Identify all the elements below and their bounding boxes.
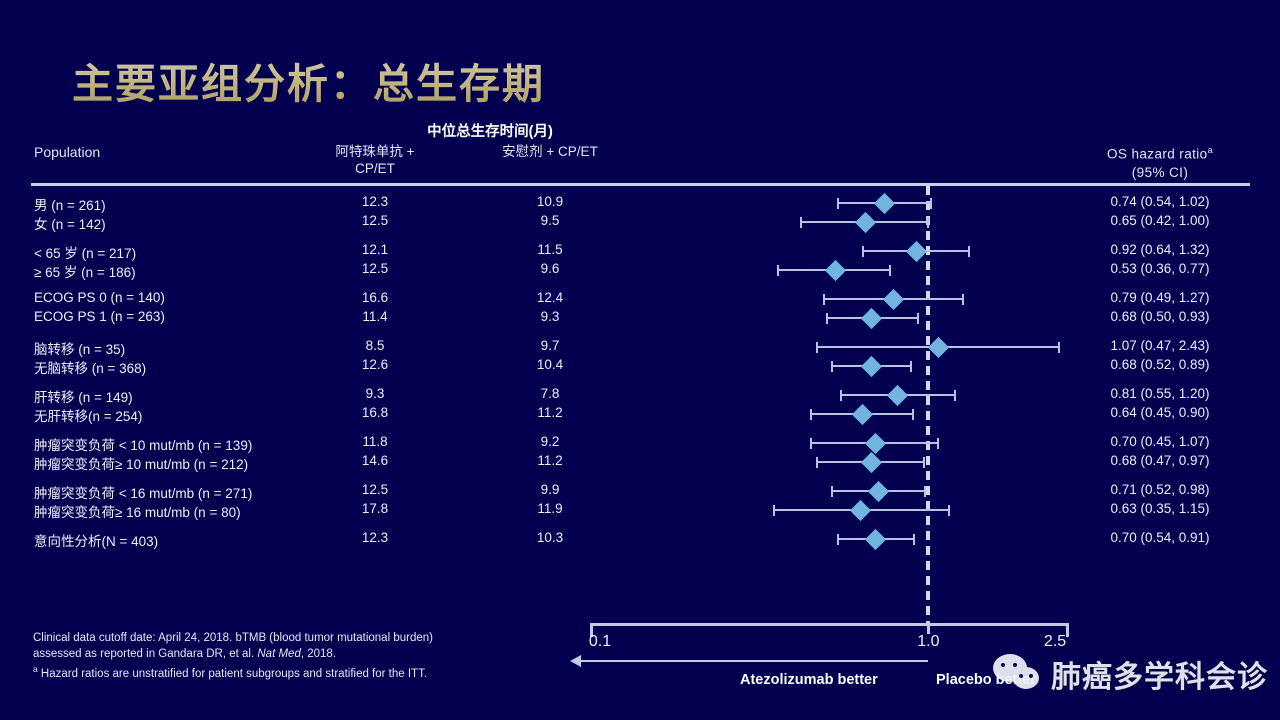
row-median-atezolizumab: 12.5: [300, 261, 450, 276]
row-median-placebo: 9.9: [455, 482, 645, 497]
row-median-placebo: 9.6: [455, 261, 645, 276]
row-median-placebo: 11.2: [455, 405, 645, 420]
row-hazard-ratio: 0.70 (0.45, 1.07): [1060, 434, 1260, 449]
row-population-label: 肿瘤突变负荷≥ 16 mut/mb (n = 80): [34, 501, 241, 521]
hazard-ratio-header-line2: (95% CI): [1060, 164, 1260, 182]
row-median-atezolizumab: 12.3: [300, 194, 450, 209]
table-row: 脑转移 (n = 35)8.59.71.07 (0.47, 2.43): [0, 338, 1280, 357]
row-median-atezolizumab: 8.5: [300, 338, 450, 353]
row-population-label: ECOG PS 1 (n = 263): [34, 309, 165, 324]
hazard-ratio-header-text: OS hazard ratio: [1107, 147, 1208, 162]
table-row: 无肝转移(n = 254)16.811.20.64 (0.45, 0.90): [0, 405, 1280, 424]
row-hazard-ratio: 0.79 (0.49, 1.27): [1060, 290, 1260, 305]
row-median-atezolizumab: 16.6: [300, 290, 450, 305]
watermark: 肺癌多学科会诊: [993, 652, 1268, 696]
row-median-atezolizumab: 12.1: [300, 242, 450, 257]
table-row: 无脑转移 (n = 368)12.610.40.68 (0.52, 0.89): [0, 357, 1280, 376]
table-row: 女 (n = 142)12.59.50.65 (0.42, 1.00): [0, 213, 1280, 232]
row-median-atezolizumab: 14.6: [300, 453, 450, 468]
row-median-atezolizumab: 12.3: [300, 530, 450, 545]
row-population-label: ECOG PS 0 (n = 140): [34, 290, 165, 305]
wechat-eye-4: [1029, 674, 1033, 678]
row-median-atezolizumab: 12.6: [300, 357, 450, 372]
column-header-population: Population: [34, 144, 100, 160]
row-population-label: 脑转移 (n = 35): [34, 338, 125, 358]
column-header-arm-atezolizumab: 阿特珠单抗 + CP/ET: [300, 143, 450, 177]
table-row: < 65 岁 (n = 217)12.111.50.92 (0.64, 1.32…: [0, 242, 1280, 261]
axis-tick-label-high: 2.5: [1015, 633, 1095, 651]
row-median-placebo: 9.7: [455, 338, 645, 353]
wechat-eye-1: [1001, 663, 1005, 667]
row-median-placebo: 10.4: [455, 357, 645, 372]
row-population-label: 男 (n = 261): [34, 194, 106, 214]
column-header-arm1-line2: CP/ET: [300, 160, 450, 177]
row-hazard-ratio: 0.68 (0.47, 0.97): [1060, 453, 1260, 468]
row-median-atezolizumab: 17.8: [300, 501, 450, 516]
row-hazard-ratio: 0.65 (0.42, 1.00): [1060, 213, 1260, 228]
row-population-label: 肿瘤突变负荷≥ 10 mut/mb (n = 212): [34, 453, 248, 473]
row-median-atezolizumab: 9.3: [300, 386, 450, 401]
header-divider: [31, 183, 1250, 186]
row-median-atezolizumab: 11.4: [300, 309, 450, 324]
row-median-placebo: 7.8: [455, 386, 645, 401]
column-header-hazard-ratio: OS hazard ratioa (95% CI): [1060, 141, 1260, 182]
row-median-placebo: 9.2: [455, 434, 645, 449]
row-hazard-ratio: 0.71 (0.52, 0.98): [1060, 482, 1260, 497]
row-median-placebo: 9.3: [455, 309, 645, 324]
row-median-placebo: 11.5: [455, 242, 645, 257]
hazard-ratio-footnote-marker: a: [1208, 145, 1213, 155]
slide-root: 主要亚组分析：总生存期 中位总生存时间(月) Population 阿特珠单抗 …: [0, 0, 1280, 720]
row-population-label: < 65 岁 (n = 217): [34, 242, 136, 262]
row-median-atezolizumab: 12.5: [300, 213, 450, 228]
row-hazard-ratio: 0.63 (0.35, 1.15): [1060, 501, 1260, 516]
row-median-atezolizumab: 12.5: [300, 482, 450, 497]
table-row: 肝转移 (n = 149)9.37.80.81 (0.55, 1.20): [0, 386, 1280, 405]
row-population-label: 肿瘤突变负荷 < 16 mut/mb (n = 271): [34, 482, 252, 502]
wechat-eye-2: [1013, 663, 1017, 667]
axis-label-atezolizumab-better: Atezolizumab better: [740, 672, 878, 688]
footnote-line-3-text: Hazard ratios are unstratified for patie…: [38, 668, 427, 680]
row-median-atezolizumab: 16.8: [300, 405, 450, 420]
row-median-placebo: 10.9: [455, 194, 645, 209]
row-median-placebo: 11.9: [455, 501, 645, 516]
wechat-eye-3: [1019, 674, 1023, 678]
row-hazard-ratio: 0.92 (0.64, 1.32): [1060, 242, 1260, 257]
hazard-ratio-header-line1: OS hazard ratioa: [1060, 141, 1260, 164]
table-row: 肿瘤突变负荷 < 10 mut/mb (n = 139)11.89.20.70 …: [0, 434, 1280, 453]
footnote-line-2-post: , 2018.: [301, 648, 336, 660]
column-header-median-os: 中位总生存时间(月): [330, 120, 650, 141]
footnote-line-1: Clinical data cutoff date: April 24, 201…: [33, 631, 593, 647]
row-hazard-ratio: 1.07 (0.47, 2.43): [1060, 338, 1260, 353]
row-hazard-ratio: 0.81 (0.55, 1.20): [1060, 386, 1260, 401]
table-row: 肿瘤突变负荷 < 16 mut/mb (n = 271)12.59.90.71 …: [0, 482, 1280, 501]
axis-bracket: [590, 623, 1069, 637]
row-hazard-ratio: 0.64 (0.45, 0.90): [1060, 405, 1260, 420]
column-header-arm1-line1: 阿特珠单抗 +: [300, 143, 450, 160]
row-population-label: 女 (n = 142): [34, 213, 106, 233]
row-population-label: 肿瘤突变负荷 < 10 mut/mb (n = 139): [34, 434, 252, 454]
footnote-line-2: assessed as reported in Gandara DR, et a…: [33, 647, 593, 663]
row-population-label: 无肝转移(n = 254): [34, 405, 142, 425]
page-title: 主要亚组分析：总生存期: [72, 50, 545, 110]
watermark-text: 肺癌多学科会诊: [1051, 652, 1268, 696]
row-hazard-ratio: 0.68 (0.50, 0.93): [1060, 309, 1260, 324]
table-row: ECOG PS 0 (n = 140)16.612.40.79 (0.49, 1…: [0, 290, 1280, 309]
row-hazard-ratio: 0.70 (0.54, 0.91): [1060, 530, 1260, 545]
row-hazard-ratio: 0.68 (0.52, 0.89): [1060, 357, 1260, 372]
footnote-line-3: a Hazard ratios are unstratified for pat…: [33, 662, 593, 682]
column-header-arm-placebo: 安慰剂 + CP/ET: [455, 143, 645, 160]
row-median-placebo: 10.3: [455, 530, 645, 545]
table-row: 男 (n = 261)12.310.90.74 (0.54, 1.02): [0, 194, 1280, 213]
table-row: ≥ 65 岁 (n = 186)12.59.60.53 (0.36, 0.77): [0, 261, 1280, 280]
axis-tick-label-mid: 1.0: [888, 633, 968, 651]
table-row: 肿瘤突变负荷≥ 10 mut/mb (n = 212)14.611.20.68 …: [0, 453, 1280, 472]
direction-arrow-line: [580, 660, 928, 662]
row-population-label: 肝转移 (n = 149): [34, 386, 133, 406]
row-median-placebo: 9.5: [455, 213, 645, 228]
table-row: 肿瘤突变负荷≥ 16 mut/mb (n = 80)17.811.90.63 (…: [0, 501, 1280, 520]
table-row: 意向性分析(N = 403)12.310.30.70 (0.54, 0.91): [0, 530, 1280, 549]
table-row: ECOG PS 1 (n = 263)11.49.30.68 (0.50, 0.…: [0, 309, 1280, 328]
row-population-label: ≥ 65 岁 (n = 186): [34, 261, 136, 281]
row-population-label: 无脑转移 (n = 368): [34, 357, 146, 377]
row-population-label: 意向性分析(N = 403): [34, 530, 158, 550]
wechat-bubble-small: [1013, 667, 1039, 689]
row-hazard-ratio: 0.74 (0.54, 1.02): [1060, 194, 1260, 209]
row-median-placebo: 11.2: [455, 453, 645, 468]
row-median-placebo: 12.4: [455, 290, 645, 305]
footnote: Clinical data cutoff date: April 24, 201…: [33, 631, 593, 682]
footnote-line-2-pre: assessed as reported in Gandara DR, et a…: [33, 648, 257, 660]
row-median-atezolizumab: 11.8: [300, 434, 450, 449]
wechat-logo-icon: [993, 654, 1045, 694]
footnote-journal: Nat Med: [257, 648, 300, 660]
row-hazard-ratio: 0.53 (0.36, 0.77): [1060, 261, 1260, 276]
